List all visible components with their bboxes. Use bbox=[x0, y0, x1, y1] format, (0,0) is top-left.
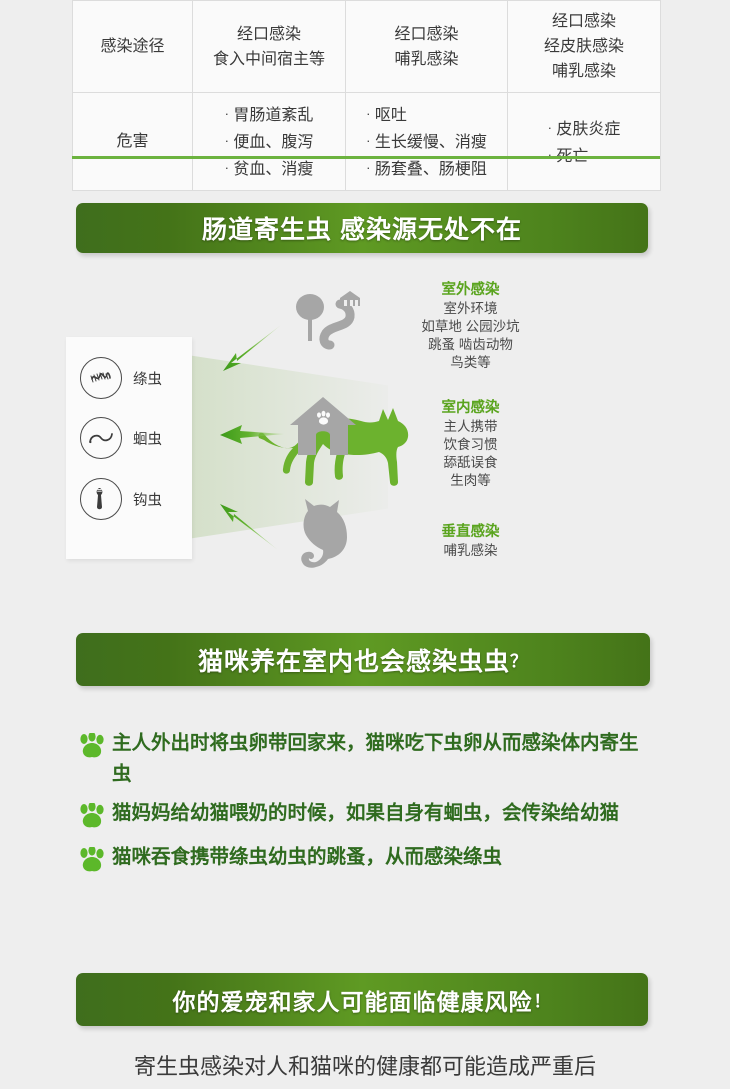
list-item: 猫咪吞食携带绦虫幼虫的跳蚤，从而感染绦虫 bbox=[78, 842, 678, 878]
outdoor-tree-house-icon bbox=[292, 289, 368, 356]
cell-harm-1: · 胃肠道紊乱 · 便血、腹泻 · 贫血、消瘦 bbox=[193, 93, 346, 191]
bullet-dot-icon: · bbox=[225, 160, 229, 175]
roundworm-icon bbox=[80, 417, 122, 459]
list-item-text: 主人外出时将虫卵带回家来，猫咪吃下虫卵从而感染体内寄生虫 bbox=[112, 728, 642, 790]
table-row: 感染途径 经口感染 食入中间宿主等 经口感染 哺乳感染 经口感染 经皮肤感染 哺… bbox=[73, 1, 661, 93]
row-header-harm: 危害 bbox=[73, 93, 193, 191]
arrow-vertical-icon bbox=[212, 500, 282, 557]
cell-transmission-2: 经口感染 哺乳感染 bbox=[346, 1, 508, 93]
row-header-transmission: 感染途径 bbox=[73, 1, 193, 93]
bullet-text: 便血、腹泻 bbox=[233, 134, 313, 151]
bullet-dot-icon: · bbox=[366, 106, 370, 121]
sitting-cat-icon bbox=[292, 497, 358, 578]
bullet-line: · 贫血、消瘦 bbox=[225, 155, 314, 182]
worm-label-roundworm: 蛔虫 bbox=[133, 428, 162, 449]
paw-print-icon bbox=[78, 847, 112, 878]
banner-indoor-cat-question: 猫咪养在室内也会感染虫虫？ bbox=[76, 633, 650, 686]
source-title-vertical: 垂直感染 bbox=[378, 523, 563, 542]
banner3-label: 你的爱宠和家人可能面临健康风险 bbox=[173, 983, 533, 1017]
bullet-line: · 呕吐 bbox=[366, 101, 487, 128]
source-lines-vertical: 哺乳感染 bbox=[378, 542, 563, 560]
bullet-dot-icon: · bbox=[225, 133, 229, 148]
banner2-label: 猫咪养在室内也会感染虫虫 bbox=[198, 642, 510, 678]
worm-label-hookworm: 钩虫 bbox=[133, 489, 162, 510]
cell-line: 哺乳感染 bbox=[350, 47, 503, 72]
worm-row-roundworm: 蛔虫 bbox=[80, 417, 162, 459]
cell-harm-2: · 呕吐 · 生长缓慢、消瘦 · 肠套叠、肠梗阻 bbox=[346, 93, 508, 191]
bullet-dot-icon: · bbox=[366, 160, 370, 175]
cell-line: 哺乳感染 bbox=[512, 59, 656, 84]
cell-transmission-3: 经口感染 经皮肤感染 哺乳感染 bbox=[508, 1, 661, 93]
cell-line: 经口感染 bbox=[512, 9, 656, 34]
worm-row-hookworm: 钩虫 bbox=[80, 478, 162, 520]
bullet-dot-icon: · bbox=[225, 106, 229, 121]
bullet-dot-icon: · bbox=[548, 147, 552, 162]
list-item: 猫妈妈给幼猫喂奶的时候，如果自身有蛔虫，会传染给幼猫 bbox=[78, 798, 678, 834]
arrow-indoor-icon bbox=[218, 422, 286, 453]
table-bottom-rule bbox=[72, 156, 660, 159]
bullet-line: · 胃肠道紊乱 bbox=[225, 101, 314, 128]
source-line: 室外环境 bbox=[378, 300, 563, 318]
worm-label-tapeworm: 绦虫 bbox=[133, 368, 162, 389]
source-line: 跳蚤 啮齿动物 bbox=[378, 336, 563, 354]
closing-paragraph: 寄生虫感染对人和猫咪的健康都可能造成严重后 bbox=[0, 1050, 730, 1084]
tapeworm-icon bbox=[80, 357, 122, 399]
source-lines-indoor: 主人携带 饮食习惯 舔舐误食 生肉等 bbox=[378, 418, 563, 490]
source-text-vertical: 垂直感染 哺乳感染 bbox=[378, 523, 563, 560]
cell-line: 经口感染 bbox=[350, 22, 503, 47]
table-row: 危害 · 胃肠道紊乱 · 便血、腹泻 · 贫血、消瘦 · 呕吐 · 生长缓慢、消… bbox=[73, 93, 661, 191]
cell-harm-3: · 皮肤炎症 · 死亡 bbox=[508, 93, 661, 191]
bullet-text: 肠套叠、肠梗阻 bbox=[375, 161, 487, 178]
source-line: 主人携带 bbox=[378, 418, 563, 436]
source-line: 鸟类等 bbox=[378, 354, 563, 372]
worm-row-tapeworm: 绦虫 bbox=[80, 357, 162, 399]
list-item-text: 猫妈妈给幼猫喂奶的时候，如果自身有蛔虫，会传染给幼猫 bbox=[112, 798, 619, 829]
cell-line: 食入中间宿主等 bbox=[197, 47, 341, 72]
arrow-outdoor-icon bbox=[215, 323, 285, 380]
source-line: 舔舐误食 bbox=[378, 454, 563, 472]
bullet-line: · 肠套叠、肠梗阻 bbox=[366, 155, 487, 182]
source-title-outdoor: 室外感染 bbox=[378, 281, 563, 300]
bullet-line: · 便血、腹泻 bbox=[225, 128, 314, 155]
worm-types-card: 绦虫 蛔虫 钩虫 bbox=[66, 337, 192, 559]
source-line: 生肉等 bbox=[378, 472, 563, 490]
banner3-exclamation-mark: ！ bbox=[534, 987, 552, 1012]
bullet-dot-icon: · bbox=[366, 133, 370, 148]
banner2-question-mark: ？ bbox=[510, 647, 528, 672]
bullet-text: 贫血、消瘦 bbox=[233, 161, 313, 178]
list-item-text: 猫咪吞食携带绦虫幼虫的跳蚤，从而感染绦虫 bbox=[112, 842, 502, 873]
source-line: 如草地 公园沙坑 bbox=[378, 318, 563, 336]
paw-print-icon bbox=[78, 733, 112, 764]
list-item: 主人外出时将虫卵带回家来，猫咪吃下虫卵从而感染体内寄生虫 bbox=[78, 728, 678, 790]
infection-source-infographic: 绦虫 蛔虫 钩虫 bbox=[60, 275, 680, 595]
source-text-indoor: 室内感染 主人携带 饮食习惯 舔舐误食 生肉等 bbox=[378, 399, 563, 490]
paw-print-icon bbox=[78, 803, 112, 834]
banner-health-risk: 你的爱宠和家人可能面临健康风险！ bbox=[76, 973, 648, 1026]
source-lines-outdoor: 室外环境 如草地 公园沙坑 跳蚤 啮齿动物 鸟类等 bbox=[378, 300, 563, 372]
bullet-text: 呕吐 bbox=[375, 107, 407, 124]
parasite-info-table: 感染途径 经口感染 食入中间宿主等 经口感染 哺乳感染 经口感染 经皮肤感染 哺… bbox=[72, 0, 660, 191]
bullet-text: 皮肤炎症 bbox=[556, 121, 620, 138]
source-title-indoor: 室内感染 bbox=[378, 399, 563, 418]
cell-transmission-1: 经口感染 食入中间宿主等 bbox=[193, 1, 346, 93]
hookworm-icon bbox=[80, 478, 122, 520]
bullet-dot-icon: · bbox=[548, 120, 552, 135]
cell-line: 经皮肤感染 bbox=[512, 34, 656, 59]
bullet-line: · 生长缓慢、消瘦 bbox=[366, 128, 487, 155]
bullet-text: 生长缓慢、消瘦 bbox=[375, 134, 487, 151]
cell-line: 经口感染 bbox=[197, 22, 341, 47]
bullet-line: · 皮肤炎症 bbox=[548, 115, 621, 142]
bullet-text: 胃肠道紊乱 bbox=[233, 107, 313, 124]
transmission-reason-list: 主人外出时将虫卵带回家来，猫咪吃下虫卵从而感染体内寄生虫 猫妈妈给幼猫喂奶的时候… bbox=[78, 728, 678, 886]
banner-intestinal-parasites: 肠道寄生虫 感染源无处不在 bbox=[76, 203, 648, 253]
source-line: 饮食习惯 bbox=[378, 436, 563, 454]
source-text-outdoor: 室外感染 室外环境 如草地 公园沙坑 跳蚤 啮齿动物 鸟类等 bbox=[378, 281, 563, 372]
house-paw-icon bbox=[288, 395, 358, 462]
banner1-label: 肠道寄生虫 感染源无处不在 bbox=[202, 210, 522, 246]
page-root: 感染途径 经口感染 食入中间宿主等 经口感染 哺乳感染 经口感染 经皮肤感染 哺… bbox=[0, 0, 730, 1089]
source-line: 哺乳感染 bbox=[378, 542, 563, 560]
bullet-line: · 死亡 bbox=[548, 142, 621, 169]
